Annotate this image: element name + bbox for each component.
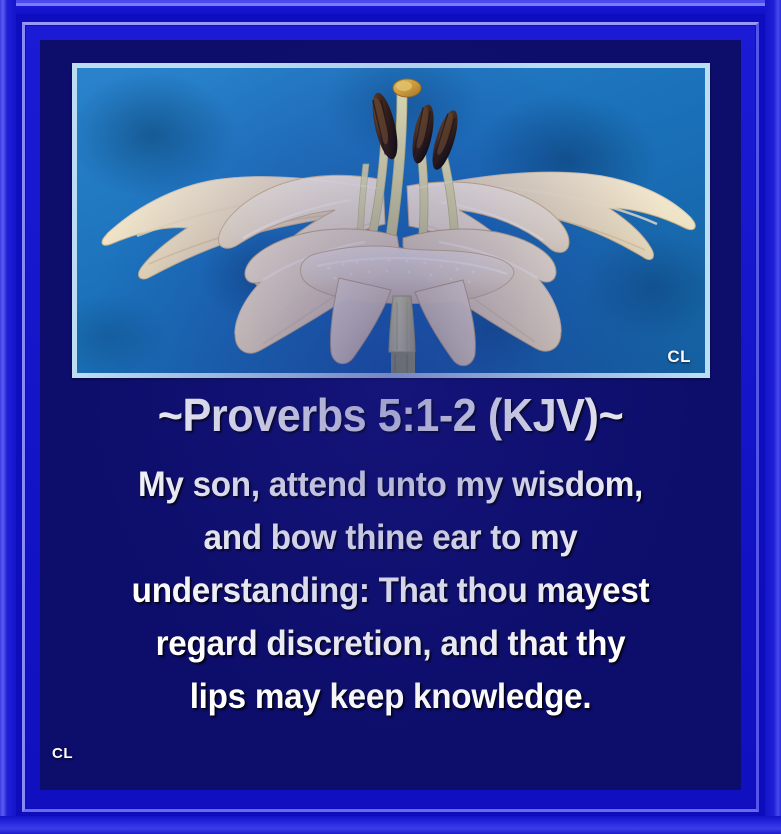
verse-line: My son, attend unto my wisdom, [67,458,714,511]
outer-frame-bottom-bevel [0,816,781,834]
lily-flower-illustration [77,68,705,373]
verse-body: My son, attend unto my wisdom, and bow t… [67,458,714,723]
verse-reference-title: ~Proverbs 5:1-2 (KJV)~ [70,388,710,442]
verse-line: and bow thine ear to my [67,511,714,564]
verse-line: lips may keep knowledge. [67,670,714,723]
scripture-image-canvas: CL ~Proverbs 5:1-2 (KJV)~ My son, attend… [0,0,781,834]
plate-watermark: CL [52,745,73,762]
verse-text-area: ~Proverbs 5:1-2 (KJV)~ My son, attend un… [40,388,741,790]
inner-plate: CL ~Proverbs 5:1-2 (KJV)~ My son, attend… [40,40,741,790]
verse-line: regard discretion, and that thy [67,617,714,670]
lily-photo: CL [77,68,705,373]
lily-photo-frame: CL [72,63,710,378]
photo-watermark: CL [667,347,691,367]
verse-line: understanding: That thou mayest [67,564,714,617]
